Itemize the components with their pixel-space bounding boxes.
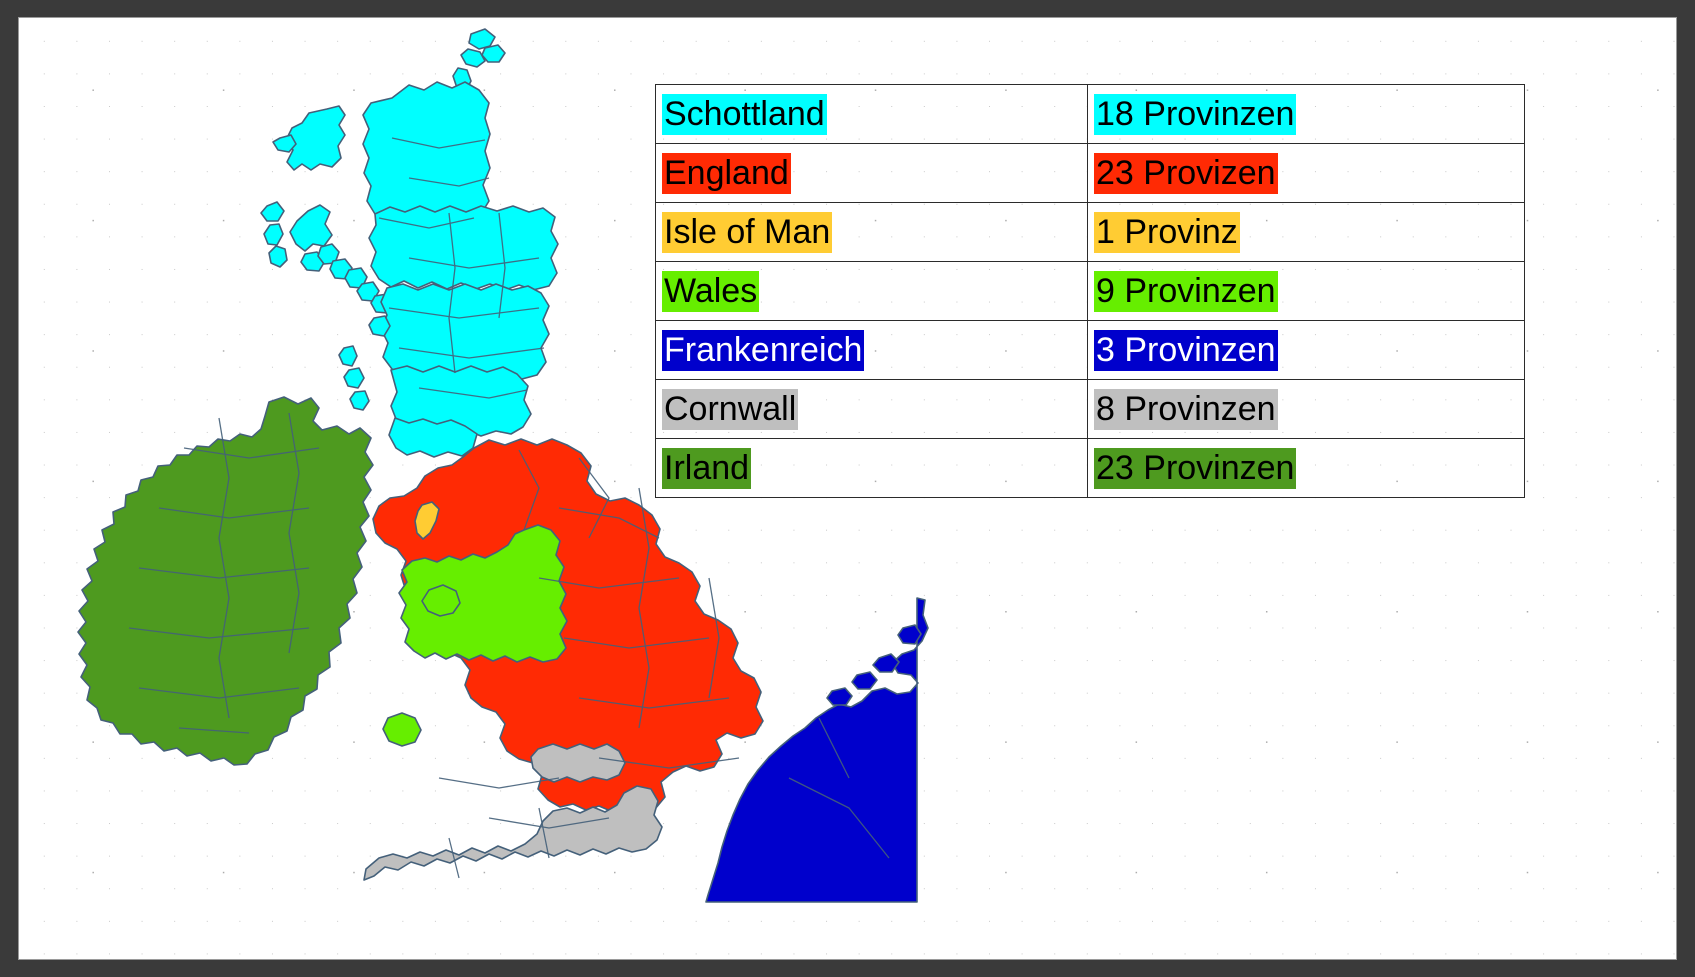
province-count-frankenreich: 3 Provinzen bbox=[1094, 330, 1278, 371]
table-row[interactable]: Wales 9 Provinzen bbox=[656, 262, 1525, 321]
table-row[interactable]: Schottland 18 Provinzen bbox=[656, 85, 1525, 144]
province-count-wales: 9 Provinzen bbox=[1094, 271, 1278, 312]
table-cell-region: Isle of Man bbox=[656, 203, 1088, 262]
slide-canvas: Schottland 18 Provinzen England 23 Provi… bbox=[19, 18, 1676, 959]
region-label-frankenreich: Frankenreich bbox=[662, 330, 864, 371]
province-count-cornwall: 8 Provinzen bbox=[1094, 389, 1278, 430]
region-label-schottland: Schottland bbox=[662, 94, 827, 135]
table-cell-region: Irland bbox=[656, 439, 1088, 498]
table-cell-region: Schottland bbox=[656, 85, 1088, 144]
province-count-isle-of-man: 1 Provinz bbox=[1094, 212, 1240, 253]
table-cell-region: England bbox=[656, 144, 1088, 203]
region-frankenreich bbox=[706, 598, 928, 902]
table-cell-region: Frankenreich bbox=[656, 321, 1088, 380]
table-cell-provinces: 23 Provizen bbox=[1088, 144, 1525, 203]
provinces-legend-table: Schottland 18 Provinzen England 23 Provi… bbox=[655, 84, 1525, 498]
table-cell-provinces: 1 Provinz bbox=[1088, 203, 1525, 262]
region-irland bbox=[78, 397, 373, 765]
table-cell-region: Wales bbox=[656, 262, 1088, 321]
table-cell-region: Cornwall bbox=[656, 380, 1088, 439]
table-cell-provinces: 8 Provinzen bbox=[1088, 380, 1525, 439]
table-cell-provinces: 9 Provinzen bbox=[1088, 262, 1525, 321]
province-count-england: 23 Provizen bbox=[1094, 153, 1278, 194]
region-label-england: England bbox=[662, 153, 791, 194]
table-cell-provinces: 23 Provinzen bbox=[1088, 439, 1525, 498]
region-label-isle-of-man: Isle of Man bbox=[662, 212, 832, 253]
table-row[interactable]: Frankenreich 3 Provinzen bbox=[656, 321, 1525, 380]
table-cell-provinces: 3 Provinzen bbox=[1088, 321, 1525, 380]
table-row[interactable]: Irland 23 Provinzen bbox=[656, 439, 1525, 498]
region-label-irland: Irland bbox=[662, 448, 751, 489]
region-cornwall bbox=[364, 744, 662, 880]
region-label-wales: Wales bbox=[662, 271, 759, 312]
table-row[interactable]: Isle of Man 1 Provinz bbox=[656, 203, 1525, 262]
province-count-schottland: 18 Provinzen bbox=[1094, 94, 1296, 135]
table-row[interactable]: Cornwall 8 Provinzen bbox=[656, 380, 1525, 439]
province-count-irland: 23 Provinzen bbox=[1094, 448, 1296, 489]
legend-table-body: Schottland 18 Provinzen England 23 Provi… bbox=[656, 85, 1525, 498]
table-row[interactable]: England 23 Provizen bbox=[656, 144, 1525, 203]
table-cell-provinces: 18 Provinzen bbox=[1088, 85, 1525, 144]
region-label-cornwall: Cornwall bbox=[662, 389, 798, 430]
